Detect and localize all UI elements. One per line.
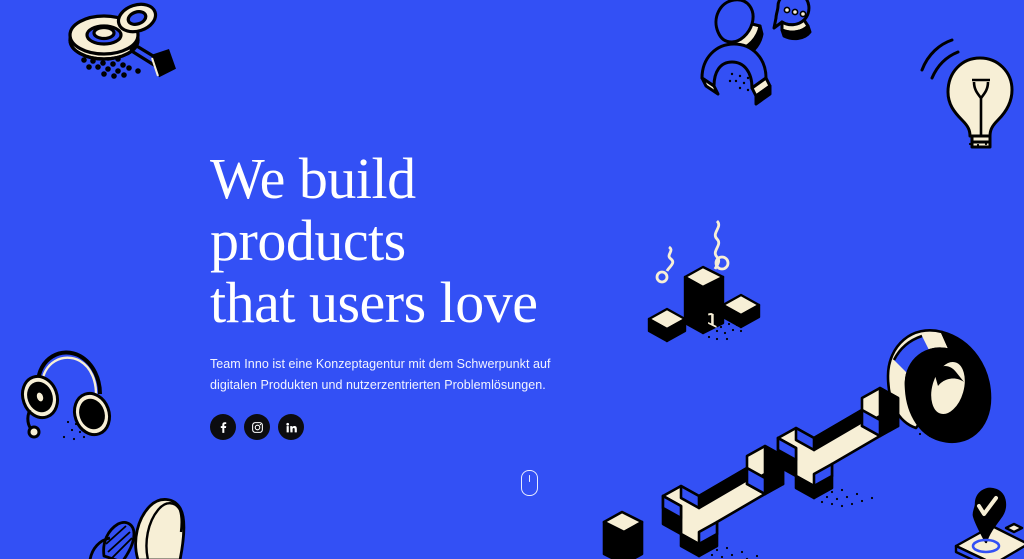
mouse-wheel-icon bbox=[529, 475, 531, 482]
headline-line-1: We build bbox=[210, 148, 630, 210]
map-pin-check-illustration bbox=[948, 488, 1024, 559]
pillar-block-illustration bbox=[598, 508, 668, 559]
social-link-facebook[interactable] bbox=[210, 414, 236, 440]
social-link-linkedin[interactable] bbox=[278, 414, 304, 440]
hero-paragraph: Team Inno ist eine Konzeptagentur mit de… bbox=[210, 334, 575, 396]
hero-copy: We build products that users love Team I… bbox=[210, 148, 630, 440]
scroll-hint[interactable] bbox=[521, 470, 538, 496]
user-speech-bubble-illustration bbox=[690, 0, 810, 107]
instagram-icon bbox=[251, 421, 264, 434]
hand-pen-illustration bbox=[86, 500, 216, 559]
linkedin-icon bbox=[285, 421, 298, 434]
lightbulb-illustration bbox=[912, 32, 1024, 147]
magnifying-glass-illustration bbox=[52, 0, 202, 91]
page-title: We build products that users love bbox=[210, 148, 630, 334]
podium-winner-illustration: 1 bbox=[645, 215, 765, 345]
facebook-icon bbox=[217, 421, 230, 434]
social-link-instagram[interactable] bbox=[244, 414, 270, 440]
letter-n-3d-lower-illustration bbox=[655, 448, 835, 559]
headline-line-2: products bbox=[210, 210, 630, 272]
hero-section: 1 bbox=[0, 0, 1024, 559]
mouse-scroll-icon bbox=[521, 470, 538, 496]
social-links bbox=[210, 396, 630, 440]
headline-line-3: that users love bbox=[210, 272, 630, 334]
headphones-illustration bbox=[12, 342, 124, 454]
